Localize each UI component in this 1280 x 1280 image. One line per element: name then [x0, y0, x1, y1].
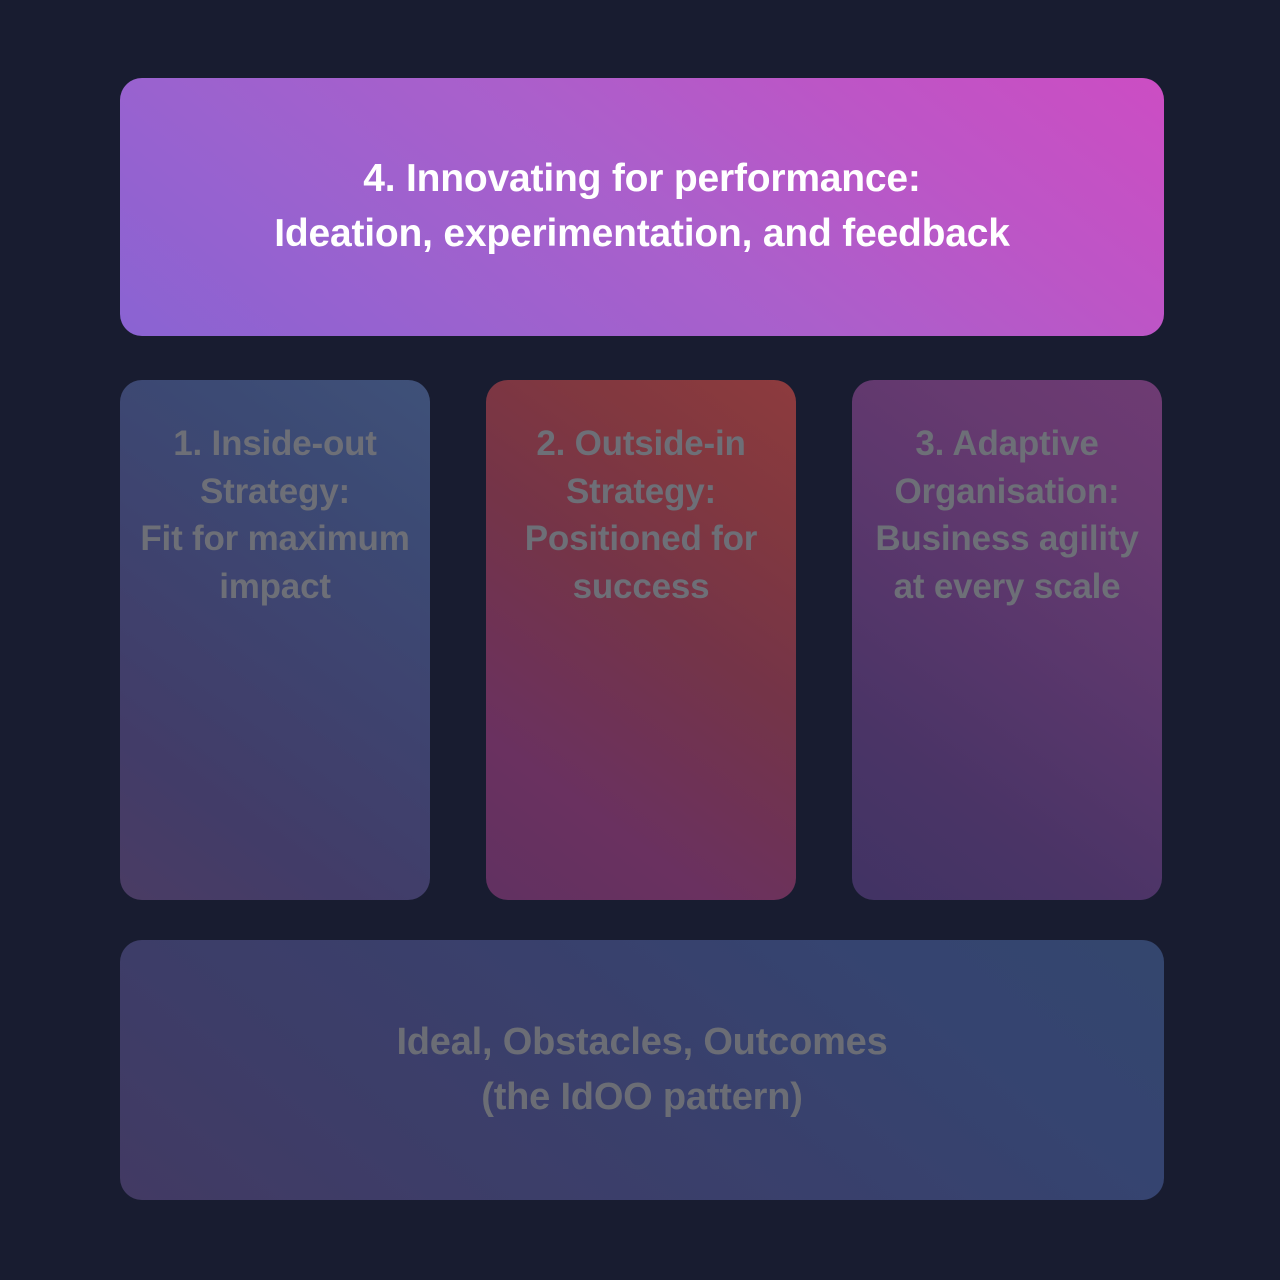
card-outside-in-strategy[interactable]: 2. Outside-in Strategy: Positioned for s… [486, 380, 796, 900]
card-outside-in-strategy-title: 2. Outside-in Strategy: Positioned for s… [486, 420, 796, 610]
card-innovating-for-performance[interactable]: 4. Innovating for performance: Ideation,… [120, 78, 1164, 336]
slide-canvas: 4. Innovating for performance: Ideation,… [0, 0, 1280, 1280]
card-adaptive-organisation[interactable]: 3. Adaptive Organisation: Business agili… [852, 380, 1162, 900]
card-innovating-for-performance-title: 4. Innovating for performance: Ideation,… [256, 152, 1028, 261]
card-inside-out-strategy[interactable]: 1. Inside-out Strategy: Fit for maximum … [120, 380, 430, 900]
card-idoo-pattern[interactable]: Ideal, Obstacles, Outcomes (the IdOO pat… [120, 940, 1164, 1200]
card-inside-out-strategy-title: 1. Inside-out Strategy: Fit for maximum … [120, 420, 430, 610]
card-adaptive-organisation-title: 3. Adaptive Organisation: Business agili… [852, 420, 1162, 610]
card-idoo-pattern-title: Ideal, Obstacles, Outcomes (the IdOO pat… [378, 1015, 905, 1125]
